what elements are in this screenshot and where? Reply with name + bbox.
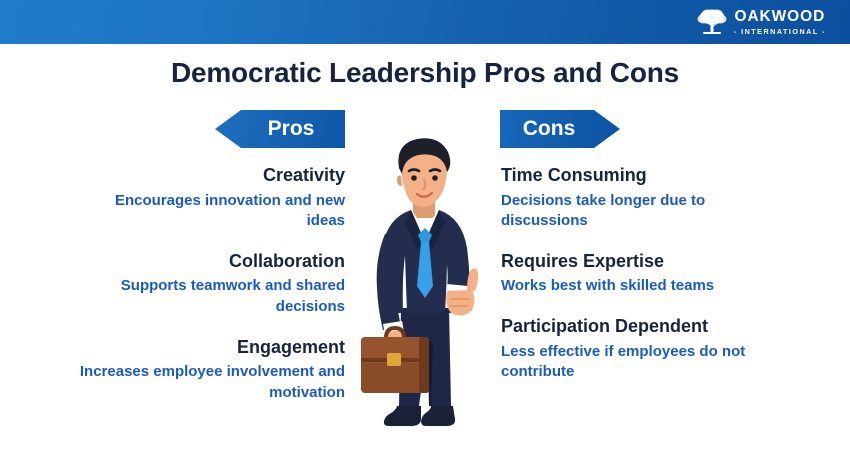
oak-tree-icon — [696, 7, 728, 37]
list-item: Requires Expertise Works best with skill… — [501, 250, 773, 297]
item-description: Increases employee involvement and motiv… — [73, 362, 345, 403]
cons-column: Time Consuming Decisions take longer due… — [501, 164, 773, 401]
cons-banner-badge: Cons — [500, 110, 620, 148]
item-title: Collaboration — [73, 250, 345, 273]
item-title: Engagement — [73, 336, 345, 359]
list-item: Time Consuming Decisions take longer due… — [501, 164, 773, 232]
pros-column: Creativity Encourages innovation and new… — [73, 164, 345, 422]
item-title: Time Consuming — [501, 164, 773, 187]
item-title: Participation Dependent — [501, 315, 773, 338]
item-title: Creativity — [73, 164, 345, 187]
item-title: Requires Expertise — [501, 250, 773, 273]
list-item: Creativity Encourages innovation and new… — [73, 164, 345, 232]
list-item: Collaboration Supports teamwork and shar… — [73, 250, 345, 318]
logo-title: OAKWOOD — [735, 9, 826, 25]
item-description: Encourages innovation and new ideas — [73, 191, 345, 232]
item-description: Decisions take longer due to discussions — [501, 191, 773, 232]
logo-subtitle: - INTERNATIONAL - — [734, 28, 826, 35]
list-item: Participation Dependent Less effective i… — [501, 315, 773, 383]
logo-wordmark: OAKWOOD - INTERNATIONAL - — [734, 9, 826, 35]
header-band: OAKWOOD - INTERNATIONAL - — [0, 0, 850, 44]
businessman-thumbs-up-illustration — [355, 138, 495, 438]
pros-banner-badge: Pros — [215, 110, 345, 148]
page-title: Democratic Leadership Pros and Cons — [0, 57, 850, 89]
item-description: Works best with skilled teams — [501, 276, 773, 297]
list-item: Engagement Increases employee involvemen… — [73, 336, 345, 404]
item-description: Supports teamwork and shared decisions — [73, 276, 345, 317]
item-description: Less effective if employees do not contr… — [501, 342, 773, 383]
brand-logo[interactable]: OAKWOOD - INTERNATIONAL - — [696, 7, 826, 37]
